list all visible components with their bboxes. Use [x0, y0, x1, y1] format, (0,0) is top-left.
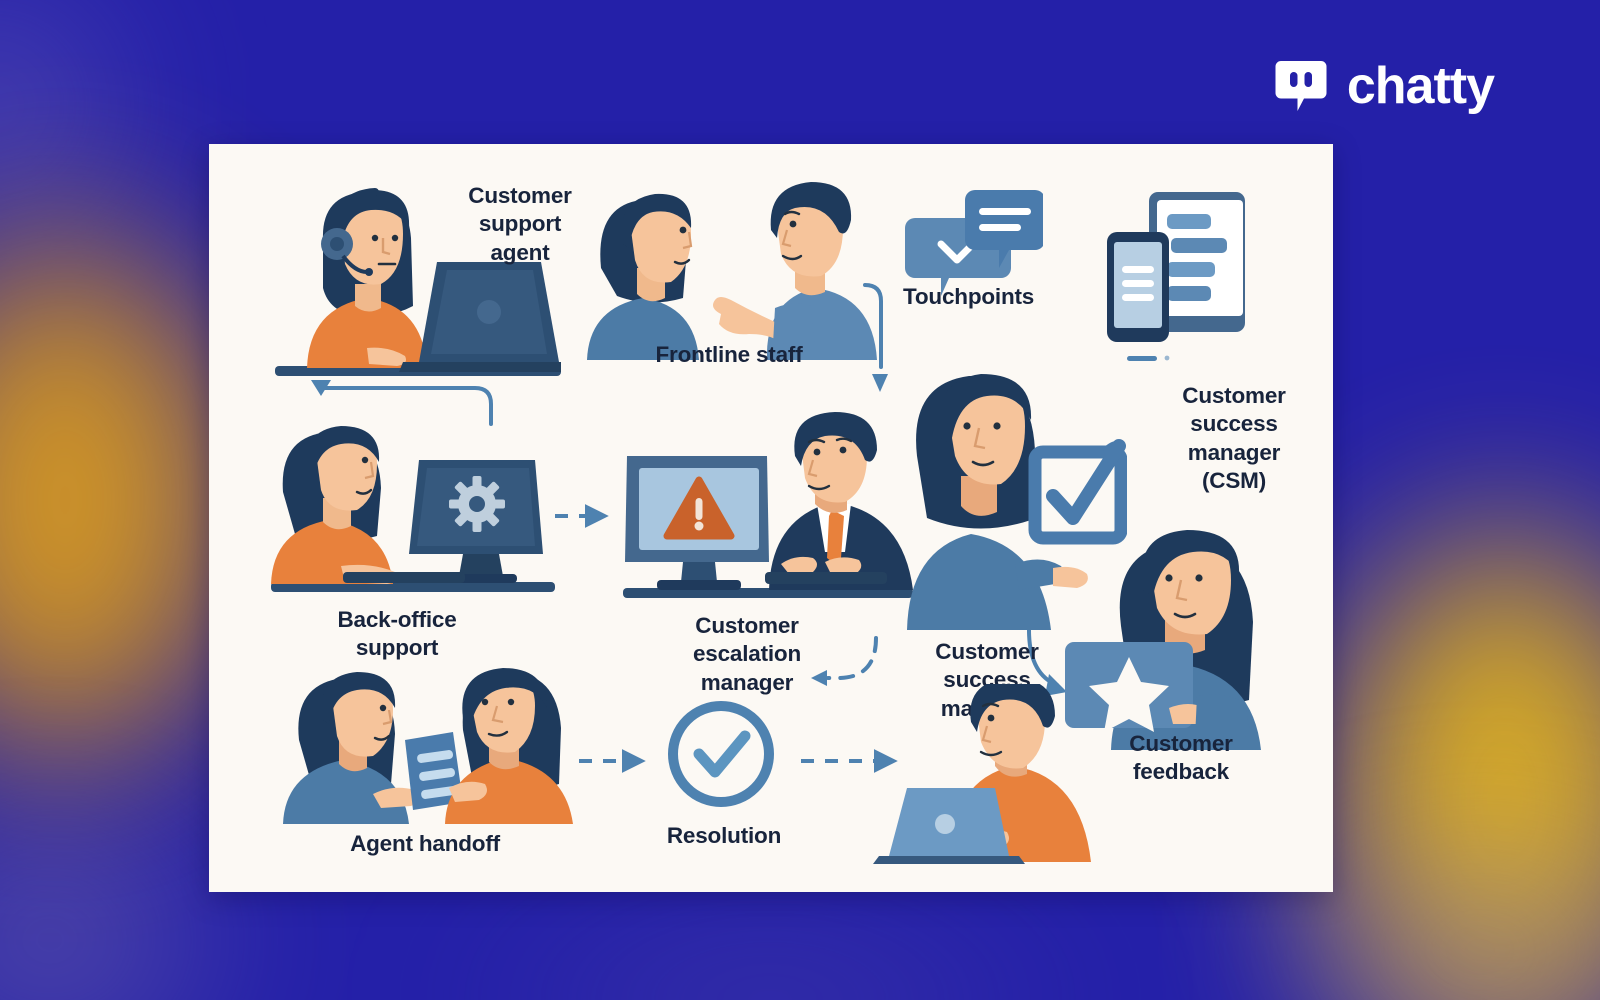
brand-name: chatty: [1347, 60, 1494, 112]
background-glow-right: [1290, 480, 1600, 1000]
two-people-talking-illustration: [579, 172, 879, 362]
phone-and-tablet-devices-illustration: [1105, 190, 1250, 370]
circle-check-icon: [661, 696, 781, 816]
node-label-frontline-staff: Frontline staff: [577, 341, 881, 369]
node-label-customer-success-manager-csm: Customer success manager (CSM): [1139, 382, 1329, 495]
node-label-customer-feedback: Customer feedback: [1091, 730, 1271, 787]
chat-bubble-icon: [1273, 58, 1329, 114]
node-label-customer-support-agent: Customer support agent: [445, 182, 595, 267]
man-in-suit-at-monitor-with-warning-illustration: [619, 412, 929, 612]
diagram-canvas: chatty: [0, 0, 1600, 1000]
two-women-passing-document-illustration: [277, 666, 577, 826]
background-glow-top-left: [0, 0, 160, 270]
diagram-card: Customer support agent: [209, 144, 1333, 892]
brand-logo[interactable]: chatty: [1273, 58, 1494, 114]
two-speech-bubbles-illustration: [903, 188, 1043, 298]
node-label-agent-handoff: Agent handoff: [275, 830, 575, 858]
node-label-back-office-support: Back-office support: [297, 606, 497, 663]
node-label-customer-escalation-manager: Customer escalation manager: [637, 612, 857, 697]
man-at-laptop-illustration: [849, 684, 1099, 864]
node-label-resolution: Resolution: [649, 822, 799, 850]
node-label-touchpoints: Touchpoints: [903, 283, 1034, 311]
background-glow-bottom-middle: [420, 920, 1120, 1000]
woman-at-monitor-with-gear-illustration: [267, 414, 557, 604]
